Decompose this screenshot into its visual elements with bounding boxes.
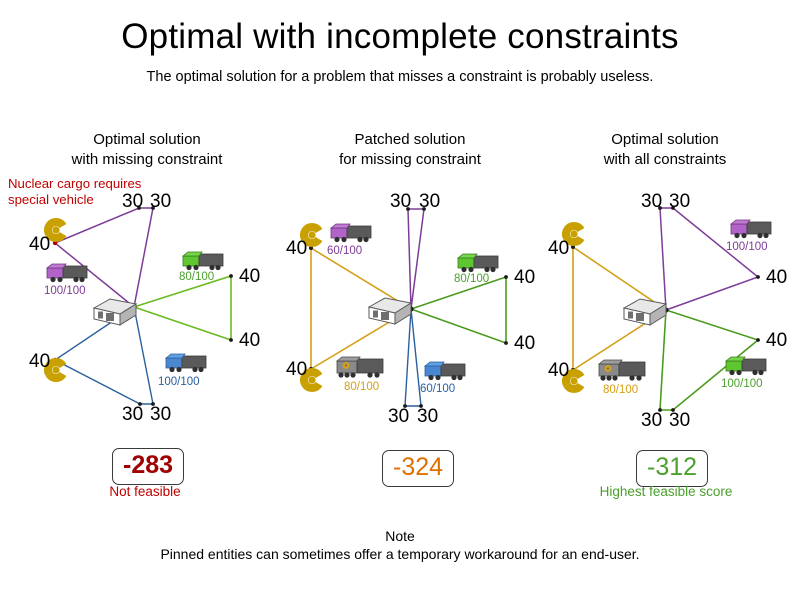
route-green-panel2: [411, 277, 506, 343]
annotation-line1: Nuclear cargo requires: [8, 176, 188, 192]
score-caption-optimal-missing: Not feasible: [55, 484, 235, 500]
panel-heading-line2: with all constraints: [535, 150, 795, 170]
score-badge-patched[interactable]: -324: [382, 450, 454, 487]
page-title: Optimal with incomplete constraints: [0, 16, 800, 58]
demand-top-left: 30: [390, 192, 411, 211]
score-badge-optimal-missing[interactable]: -283: [112, 448, 184, 485]
panel-heading-line2: for missing constraint: [280, 150, 540, 170]
demand-bottom-left: 30: [122, 405, 143, 424]
route-green-panel1: [134, 276, 231, 340]
depot-building-icon: [622, 295, 668, 327]
demand-top-left: 30: [641, 192, 662, 211]
demand-right-upper: 40: [514, 268, 535, 287]
panel-heading-line2: with missing constraint: [17, 150, 277, 170]
demand-bottom-left: 30: [388, 407, 409, 426]
note-body: Pinned entities can sometimes offer a te…: [0, 546, 800, 563]
demand-right-lower: 40: [239, 331, 260, 350]
demand-right-lower: 40: [514, 334, 535, 353]
demand-nuclear-lower: 40: [548, 361, 569, 380]
capacity-label: 80/100: [454, 273, 489, 285]
demand-top-right: 30: [419, 192, 440, 211]
truck-icon: [44, 262, 94, 286]
truck-icon: [328, 222, 378, 246]
demand-nuclear-upper: 40: [548, 239, 569, 258]
demand-bottom-right: 30: [417, 407, 438, 426]
demand-right-lower: 40: [766, 331, 787, 350]
truck-icon: [422, 360, 472, 384]
panel-heading-line1: Patched solution: [280, 130, 540, 150]
panel-heading-optimal-all: Optimal solution with all constraints: [535, 130, 795, 170]
demand-bottom-right: 30: [150, 405, 171, 424]
score-caption-optimal-all: Highest feasible score: [576, 484, 756, 500]
capacity-label: 100/100: [44, 285, 86, 297]
panel-heading-patched: Patched solution for missing constraint: [280, 130, 540, 170]
truck-icon: [723, 355, 773, 379]
panel-heading-line1: Optimal solution: [17, 130, 277, 150]
truck-icon: [163, 352, 213, 376]
panel-heading-optimal-missing: Optimal solution with missing constraint: [17, 130, 277, 170]
capacity-label: 80/100: [179, 271, 214, 283]
demand-right-upper: 40: [766, 268, 787, 287]
demand-nuclear-lower: 40: [29, 352, 50, 371]
demand-top-right: 30: [669, 192, 690, 211]
demand-nuclear-upper: 40: [29, 235, 50, 254]
demand-bottom-right: 30: [669, 411, 690, 430]
capacity-label: 80/100: [603, 384, 638, 396]
demand-nuclear-upper: 40: [286, 239, 307, 258]
demand-top-right: 30: [150, 192, 171, 211]
page-subtitle: The optimal solution for a problem that …: [0, 68, 800, 86]
truck-icon: [596, 359, 654, 385]
depot-building-icon: [367, 294, 413, 326]
capacity-label: 80/100: [344, 381, 379, 393]
demand-right-upper: 40: [239, 267, 260, 286]
demand-bottom-left: 30: [641, 411, 662, 430]
truck-icon: [334, 356, 392, 382]
note-title: Note: [0, 528, 800, 545]
truck-icon: [728, 218, 778, 242]
capacity-label: 100/100: [721, 378, 763, 390]
demand-nuclear-lower: 40: [286, 360, 307, 379]
capacity-label: 60/100: [327, 245, 362, 257]
capacity-label: 100/100: [158, 376, 200, 388]
capacity-label: 100/100: [726, 241, 768, 253]
panel-heading-line1: Optimal solution: [535, 130, 795, 150]
slide-canvas: Optimal with incomplete constraints The …: [0, 0, 800, 600]
demand-top-left: 30: [122, 192, 143, 211]
score-badge-optimal-all[interactable]: -312: [636, 450, 708, 487]
depot-building-icon: [92, 295, 138, 327]
capacity-label: 60/100: [420, 383, 455, 395]
